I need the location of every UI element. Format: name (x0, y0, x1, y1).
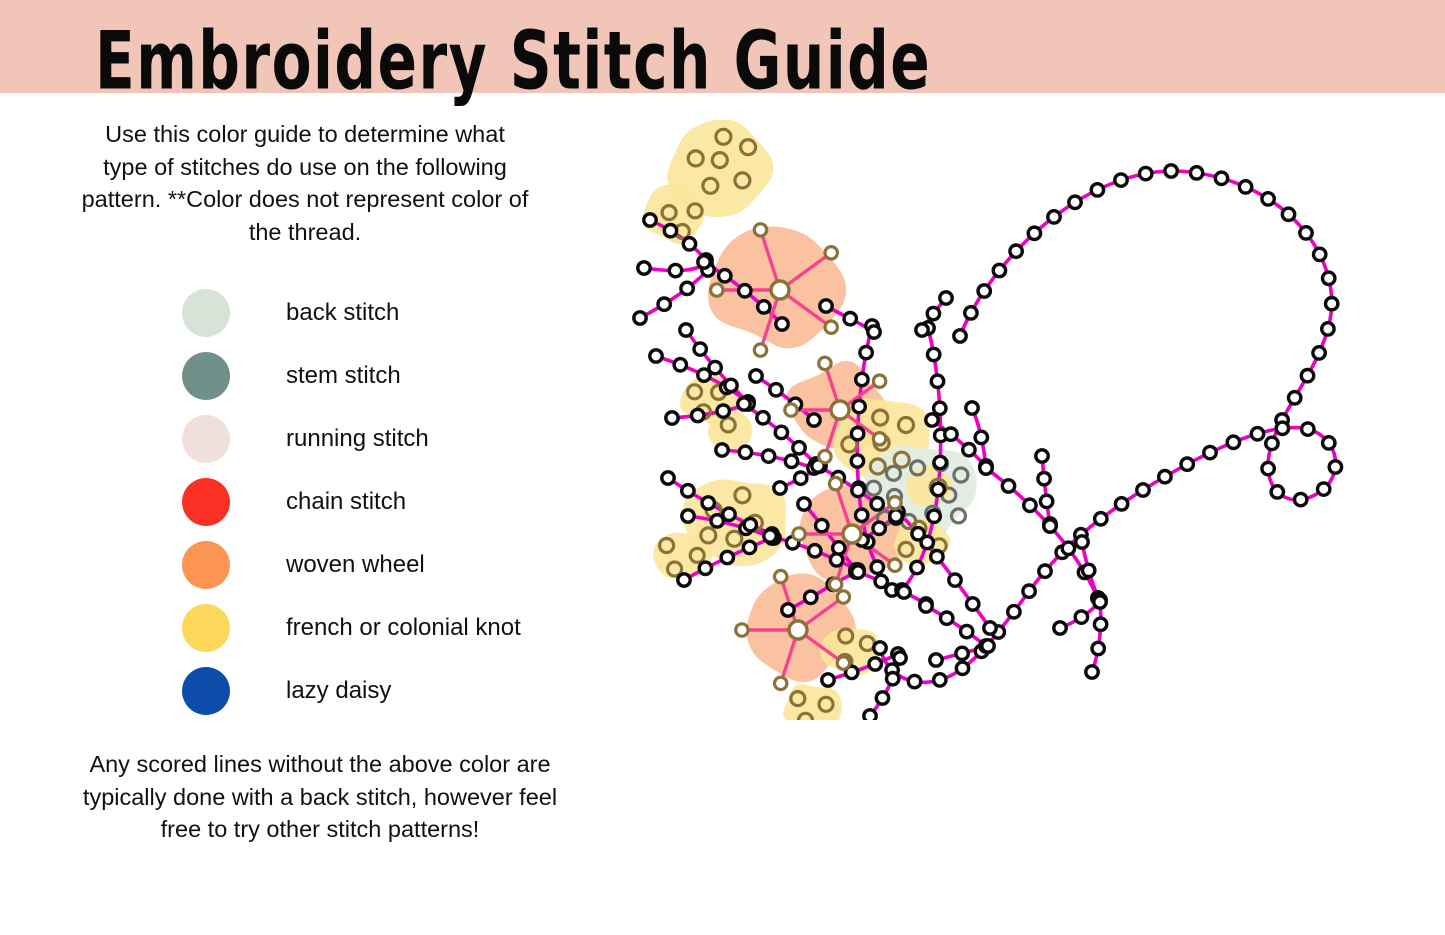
stitch-node (825, 321, 837, 333)
stitch-node (853, 400, 865, 412)
stitch-node (680, 324, 692, 336)
stitch-node (1262, 462, 1274, 474)
stitch-node (774, 482, 786, 494)
stitch-node (949, 574, 961, 586)
stitch-node (931, 551, 943, 563)
stitch-node (1282, 208, 1294, 220)
stitch-node (669, 264, 681, 276)
stitch-node (782, 604, 794, 616)
legend-item-lazy-daisy[interactable]: lazy daisy (182, 659, 622, 722)
header-banner: Embroidery Stitch Guide (0, 0, 1445, 93)
stitch-node (844, 313, 856, 325)
stitch-node (1266, 437, 1278, 449)
legend-label-lazy-daisy: lazy daisy (286, 678, 391, 704)
stitch-node (785, 455, 797, 467)
stitch-node (961, 625, 973, 637)
stitch-node (736, 624, 748, 636)
stitch-node (940, 292, 952, 304)
stitch-node (658, 298, 670, 310)
stitch-node (1190, 167, 1202, 179)
stitch-node (1301, 370, 1313, 382)
stitch-node (856, 509, 868, 521)
stitch-node (837, 657, 849, 669)
legend-label-woven-wheel: woven wheel (286, 552, 425, 578)
stitch-node (833, 542, 845, 554)
stitch-node (956, 647, 968, 659)
stitch-node (1075, 611, 1087, 623)
stitch-node (916, 324, 928, 336)
stitch-node (1302, 423, 1314, 435)
stitch-node (674, 359, 686, 371)
swatch-back-stitch (182, 289, 230, 337)
stitch-node (956, 662, 968, 674)
stitch-node (908, 675, 920, 687)
stitch-node (762, 450, 774, 462)
stitch-node (1092, 642, 1104, 654)
swatch-stem-stitch (182, 352, 230, 400)
legend-label-chain-stitch: chain stitch (286, 489, 406, 515)
stitch-node (775, 570, 787, 582)
stitch-node (822, 674, 834, 686)
stitch-node (887, 673, 899, 685)
stitch-node (930, 654, 942, 666)
stitch-node (1137, 484, 1149, 496)
stitch-node (975, 431, 987, 443)
stitch-node (819, 450, 831, 462)
stitch-node (743, 541, 755, 553)
stitch-node (894, 652, 906, 664)
legend-label-french-knot: french or colonial knot (286, 615, 521, 641)
stitch-node (932, 483, 944, 495)
stitch-node (890, 510, 902, 522)
stitch-node (889, 497, 901, 509)
legend-label-stem-stitch: stem stitch (286, 363, 401, 389)
stitch-node (1262, 193, 1274, 205)
stitch-node (754, 224, 766, 236)
stitch-node (1318, 483, 1330, 495)
stitch-node (856, 373, 868, 385)
stitch-node (739, 446, 751, 458)
stitch-node (716, 444, 728, 456)
stitch-node (725, 379, 737, 391)
legend-item-french-knot[interactable]: french or colonial knot (182, 596, 622, 659)
stitch-line (880, 171, 1336, 682)
stitch-node (757, 412, 769, 424)
stitch-node (719, 270, 731, 282)
stitch-guide-page: Embroidery Stitch Guide Use this color g… (0, 0, 1445, 935)
stitch-node (678, 574, 690, 586)
stitch-node (764, 530, 776, 542)
swatch-french-knot (182, 604, 230, 652)
stitch-node (650, 350, 662, 362)
stitch-node (868, 326, 880, 338)
stitch-node (920, 600, 932, 612)
stitch-node (945, 428, 957, 440)
stitch-node (723, 508, 735, 520)
stitch-node (721, 551, 733, 563)
stitch-node (1165, 165, 1177, 177)
swatch-lazy-daisy (182, 667, 230, 715)
stitch-node (966, 402, 978, 414)
stitch-node (980, 462, 992, 474)
stitch-node (1140, 167, 1152, 179)
stitch-node (664, 225, 676, 237)
stitch-node (682, 510, 694, 522)
stitch-node (662, 472, 674, 484)
stitch-node (874, 642, 886, 654)
stitch-node (1204, 446, 1216, 458)
stitch-node (864, 710, 876, 720)
stitch-node (1289, 392, 1301, 404)
stitch-node (873, 522, 885, 534)
stitch-node (1295, 493, 1307, 505)
stitch-node (638, 262, 650, 274)
stitch-node (934, 402, 946, 414)
stitch-node (1010, 245, 1022, 257)
stitch-node (1323, 437, 1335, 449)
stitch-node (1251, 428, 1263, 440)
stitch-node (851, 455, 863, 467)
stitch-node (795, 472, 807, 484)
stitch-node (820, 300, 832, 312)
stitch-node (931, 375, 943, 387)
stitch-node (1326, 298, 1338, 310)
swatch-woven-wheel (182, 541, 230, 589)
stitch-node (978, 285, 990, 297)
stitch-node (1215, 172, 1227, 184)
stitch-node (876, 692, 888, 704)
stitch-node (965, 307, 977, 319)
stitch-node (911, 561, 923, 573)
stitch-node (1038, 473, 1050, 485)
stitch-node (1024, 499, 1036, 511)
stitch-node (1054, 622, 1066, 634)
stitch-node (963, 444, 975, 456)
stitch-node (702, 497, 714, 509)
stitch-node (750, 370, 762, 382)
stitch-node (770, 384, 782, 396)
stitch-node (798, 498, 810, 510)
legend-item-chain-stitch[interactable]: chain stitch (182, 470, 622, 533)
legend-item-woven-wheel[interactable]: woven wheel (182, 533, 622, 596)
stitch-node (1036, 450, 1048, 462)
stitch-node (809, 545, 821, 557)
stitch-node (1095, 513, 1107, 525)
stitch-node (1048, 211, 1060, 223)
woven-wheel-center (831, 401, 849, 419)
stitch-legend: back stitch stem stitch running stitch c… (182, 281, 622, 722)
footer-paragraph: Any scored lines without the above color… (60, 748, 580, 846)
legend-item-back-stitch[interactable]: back stitch (182, 281, 622, 344)
stitch-node (1076, 536, 1088, 548)
stitch-node (1115, 174, 1127, 186)
stitch-line (1042, 456, 1050, 524)
stitch-node (954, 330, 966, 342)
stitch-node (1039, 565, 1051, 577)
stitch-node (785, 404, 797, 416)
stitch-node (775, 677, 787, 689)
intro-paragraph: Use this color guide to determine what t… (80, 118, 530, 248)
stitch-node (644, 214, 656, 226)
stitch-node (1313, 347, 1325, 359)
stitch-node (860, 346, 872, 358)
stitch-node (926, 414, 938, 426)
stitch-node (871, 498, 883, 510)
stitch-node (898, 586, 910, 598)
stitch-node (1323, 272, 1335, 284)
stitch-node (683, 238, 695, 250)
stitch-node (698, 256, 710, 268)
stitch-node (819, 357, 831, 369)
stitch-node (928, 510, 940, 522)
stitch-node (711, 284, 723, 296)
stitch-node (851, 428, 863, 440)
stitch-node (934, 456, 946, 468)
stitch-node (825, 247, 837, 259)
stitch-node (1086, 666, 1098, 678)
stitch-node (1040, 495, 1052, 507)
stitch-node (1115, 498, 1127, 510)
swatch-running-stitch (182, 415, 230, 463)
woven-wheel-center (771, 281, 789, 299)
stitch-node (837, 591, 849, 603)
stitch-node (692, 409, 704, 421)
stitch-node (1271, 486, 1283, 498)
stitch-node (775, 426, 787, 438)
stitch-node (816, 519, 828, 531)
stitch-node (1069, 196, 1081, 208)
stitch-node (1181, 458, 1193, 470)
stitch-node (709, 361, 721, 373)
stitch-node (829, 477, 841, 489)
stitch-node (758, 301, 770, 313)
stitch-line (1092, 600, 1101, 672)
stitch-node (871, 561, 883, 573)
stitch-node (830, 554, 842, 566)
stitch-node (982, 640, 994, 652)
stitch-node (1239, 181, 1251, 193)
stitch-node (852, 484, 864, 496)
stitch-node (805, 591, 817, 603)
stitch-node (967, 598, 979, 610)
stitch-node (941, 612, 953, 624)
stitch-node (1062, 542, 1074, 554)
stitch-node (1314, 248, 1326, 260)
stitch-node (852, 566, 864, 578)
stitch-node (1300, 227, 1312, 239)
stitch-node (634, 312, 646, 324)
stitch-node (873, 433, 885, 445)
stitch-node (1322, 323, 1334, 335)
left-column: Use this color guide to determine what t… (0, 93, 640, 935)
stitch-node (873, 375, 885, 387)
stitch-node (694, 343, 706, 355)
stitch-node (889, 559, 901, 571)
stitch-node (1227, 436, 1239, 448)
stitch-node (1094, 596, 1106, 608)
woven-wheel-center (789, 621, 807, 639)
butterfly-pattern-illustration (630, 120, 1420, 720)
woven-wheel-center (843, 525, 861, 543)
stitch-node (1028, 227, 1040, 239)
stitch-node (912, 528, 924, 540)
stitch-node (1002, 480, 1014, 492)
legend-item-running-stitch[interactable]: running stitch (182, 407, 622, 470)
stitch-node (739, 285, 751, 297)
stitch-node (793, 442, 805, 454)
stitch-node (829, 578, 841, 590)
stitch-node (1329, 461, 1341, 473)
stitch-node (927, 307, 939, 319)
stitch-node (738, 398, 750, 410)
stitch-node (928, 348, 940, 360)
stitch-node (754, 344, 766, 356)
stitch-node (1023, 585, 1035, 597)
stitch-node (681, 282, 693, 294)
swatch-chain-stitch (182, 478, 230, 526)
legend-label-running-stitch: running stitch (286, 426, 429, 452)
stitch-node (666, 412, 678, 424)
legend-item-stem-stitch[interactable]: stem stitch (182, 344, 622, 407)
stitch-node (984, 622, 996, 634)
stitch-node (934, 674, 946, 686)
stitch-node (808, 414, 820, 426)
stitch-node (793, 528, 805, 540)
stitch-node (875, 575, 887, 587)
stitch-node (699, 562, 711, 574)
stitch-node (1094, 618, 1106, 630)
stitch-node (869, 658, 881, 670)
stitch-node (1044, 520, 1056, 532)
stitch-node (1159, 471, 1171, 483)
stitch-node (682, 485, 694, 497)
stitch-node (1091, 184, 1103, 196)
stitch-node (1008, 606, 1020, 618)
legend-label-back-stitch: back stitch (286, 300, 399, 326)
stitch-node (993, 264, 1005, 276)
stitch-node (776, 318, 788, 330)
stitch-node (744, 519, 756, 531)
stitch-node (1276, 422, 1288, 434)
stitch-node (1083, 564, 1095, 576)
stitch-node (717, 405, 729, 417)
